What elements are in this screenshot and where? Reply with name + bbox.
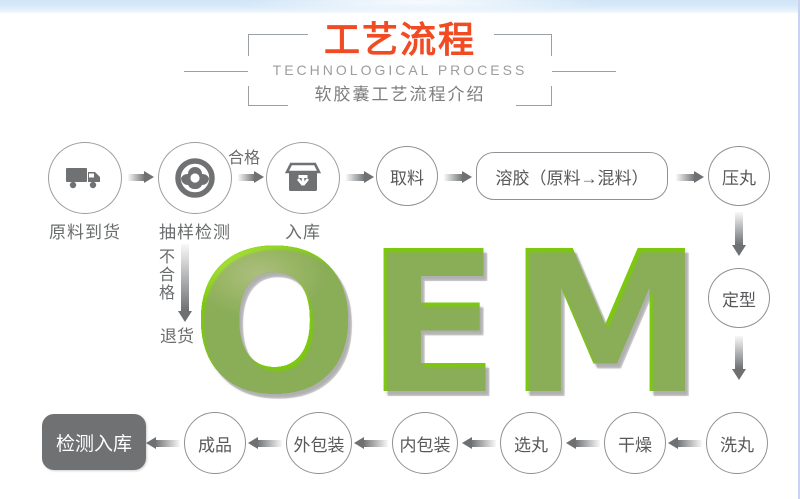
arrow-raw-to-sampling bbox=[128, 171, 154, 183]
node-warehouse-in[interactable] bbox=[266, 142, 340, 214]
oem-watermark: OEM bbox=[196, 236, 706, 412]
truck-icon bbox=[65, 165, 105, 191]
node-finished-goods[interactable]: 成品 bbox=[184, 412, 246, 474]
inbox-down-icon bbox=[285, 161, 321, 195]
top-blue-band bbox=[0, 0, 800, 14]
page-subtitle-en: TECHNOLOGICAL PROCESS bbox=[0, 62, 800, 78]
node-finished-goods-label: 成品 bbox=[198, 431, 232, 456]
arrow-drying-to-select bbox=[566, 437, 600, 449]
node-raw-arrival[interactable] bbox=[48, 142, 122, 214]
node-select-pill-label: 选丸 bbox=[514, 431, 548, 456]
arrow-press-to-shaping bbox=[732, 212, 746, 256]
node-shaping-label: 定型 bbox=[722, 286, 756, 311]
process-flow-infographic: 工艺流程 TECHNOLOGICAL PROCESS 软胶囊工艺流程介绍 OEM… bbox=[0, 0, 800, 499]
node-final-check-in[interactable]: 检测入库 bbox=[42, 414, 146, 470]
arrow-sampling-to-warehouse bbox=[238, 171, 264, 183]
node-press-pill[interactable]: 压丸 bbox=[708, 146, 770, 206]
label-fail: 不合格 bbox=[152, 248, 176, 302]
node-take-material-label: 取料 bbox=[390, 164, 424, 189]
page-title: 工艺流程 bbox=[0, 22, 800, 60]
node-inner-package-label: 内包装 bbox=[400, 431, 451, 456]
node-drying[interactable]: 干燥 bbox=[604, 412, 666, 474]
node-drying-label: 干燥 bbox=[618, 431, 652, 456]
node-final-check-in-label: 检测入库 bbox=[56, 429, 132, 456]
arrow-select-to-inner-package bbox=[462, 437, 496, 449]
page-subtitle-cn: 软胶囊工艺流程介绍 bbox=[0, 84, 800, 106]
node-outer-package-label: 外包装 bbox=[294, 431, 345, 456]
arrow-inner-to-outer-package bbox=[354, 437, 388, 449]
title-block: 工艺流程 TECHNOLOGICAL PROCESS 软胶囊工艺流程介绍 bbox=[0, 22, 800, 118]
arrow-gel-to-press bbox=[676, 171, 704, 183]
node-press-pill-label: 压丸 bbox=[722, 164, 756, 189]
caption-warehouse-in: 入库 bbox=[268, 218, 338, 243]
caption-raw-arrival: 原料到货 bbox=[28, 218, 142, 243]
sampling-icon bbox=[175, 158, 215, 198]
node-take-material[interactable]: 取料 bbox=[376, 146, 438, 206]
arrow-take-to-gel bbox=[444, 171, 472, 183]
node-sampling-inspection[interactable] bbox=[158, 142, 232, 214]
arrow-wash-to-drying bbox=[668, 437, 702, 449]
caption-sampling-inspection: 抽样检测 bbox=[138, 218, 252, 243]
node-wash-pill[interactable]: 洗丸 bbox=[706, 412, 768, 474]
arrow-outer-to-finished bbox=[248, 437, 282, 449]
arrow-warehouse-to-take bbox=[346, 171, 374, 183]
arrow-finished-to-final-check bbox=[146, 437, 180, 449]
label-pass: 合格 bbox=[228, 144, 260, 168]
node-shaping[interactable]: 定型 bbox=[708, 268, 770, 328]
node-select-pill[interactable]: 选丸 bbox=[500, 412, 562, 474]
band-highlight bbox=[0, 0, 800, 14]
node-gel-melting[interactable]: 溶胶（原料→混料） bbox=[476, 152, 668, 200]
node-outer-package[interactable]: 外包装 bbox=[286, 412, 352, 474]
node-wash-pill-label: 洗丸 bbox=[720, 431, 754, 456]
arrow-shaping-to-wash bbox=[732, 336, 746, 380]
node-gel-melting-label: 溶胶（原料→混料） bbox=[496, 164, 649, 189]
node-inner-package[interactable]: 内包装 bbox=[392, 412, 458, 474]
label-return-goods: 退货 bbox=[160, 322, 194, 347]
arrow-fail-branch bbox=[178, 244, 192, 322]
